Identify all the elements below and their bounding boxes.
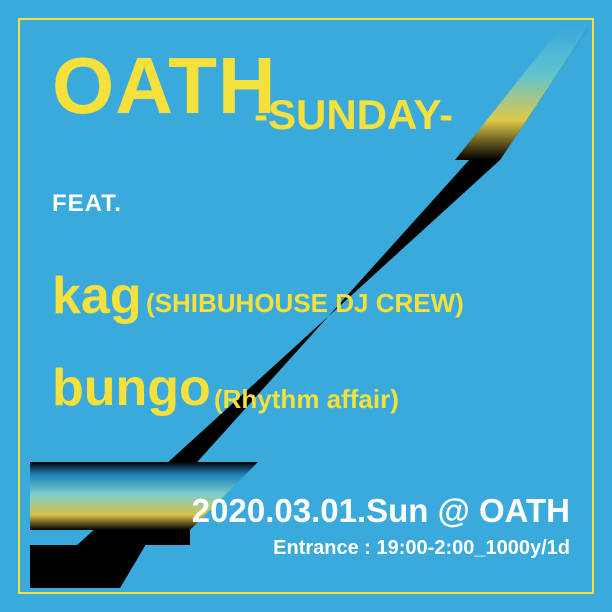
slash-corner-mask-2: [0, 588, 30, 612]
event-entrance-info: Entrance : 19:00-2:00_1000y/1d: [273, 538, 570, 558]
artist-name-1: kag: [52, 270, 142, 322]
artist-crew-2: (Rhythm affair): [214, 386, 399, 412]
event-flyer: OATH -SUNDAY- FEAT. kag (SHIBUHOUSE DJ C…: [0, 0, 612, 612]
slash-gradient-top: [455, 28, 588, 160]
artist-name-2: bungo: [52, 362, 211, 414]
artist-crew-1: (SHIBUHOUSE DJ CREW): [146, 290, 464, 316]
event-title: OATH: [52, 46, 277, 126]
event-subtitle: -SUNDAY-: [254, 94, 453, 136]
slash-corner-mask: [540, 0, 612, 28]
featuring-label: FEAT.: [52, 192, 122, 216]
event-datetime-venue: 2020.03.01.Sun @ OATH: [192, 494, 570, 527]
slash-foot: [30, 470, 190, 588]
